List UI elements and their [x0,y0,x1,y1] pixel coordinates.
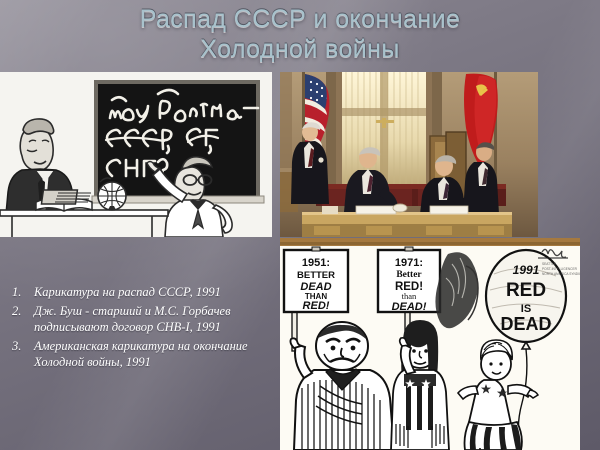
svg-text:RED!: RED! [303,300,330,312]
presentation-slide: Распад СССР и окончание Холодной войны [0,0,600,450]
caricature-illustration [0,72,272,237]
cold-war-cartoon-illustration: 1951: BETTER DEAD THAN RED! 1971: Better… [280,238,580,450]
image-american-cold-war-cartoon: 1951: BETTER DEAD THAN RED! 1971: Better… [280,238,580,450]
caption-list: 1. Карикатура на распад СССР, 1991 2. Дж… [6,284,274,373]
title-line-1: Распад СССР и окончание [0,4,600,34]
list-item-label: Американская карикатура на окончание Хол… [34,338,274,371]
svg-text:POST-INTELLIGENCER: POST-INTELLIGENCER [542,267,578,271]
svg-text:SEATTLE: SEATTLE [542,262,556,266]
page-title: Распад СССР и окончание Холодной войны [0,4,600,64]
svg-text:1951:: 1951: [302,257,330,269]
treaty-photograph [280,72,538,237]
list-item-label: Карикатура на распад СССР, 1991 [34,284,221,301]
list-item-number: 3. [6,338,34,355]
svg-text:than: than [402,291,417,301]
svg-text:NORTH AMERICA SYNDICATE: NORTH AMERICA SYNDICATE [542,272,580,276]
list-item-number: 2. [6,303,34,320]
list-item-label: Дж. Буш - старший и М.С. Горбачев подпис… [34,303,274,336]
svg-text:RED: RED [506,280,546,301]
list-item: 2. Дж. Буш - старший и М.С. Горбачев под… [6,303,274,336]
list-item-number: 1. [6,284,34,301]
svg-text:1971:: 1971: [395,257,423,269]
image-caricature-ussr-collapse [0,72,272,237]
svg-text:DEAD: DEAD [500,314,551,334]
svg-text:1991: 1991 [513,263,540,277]
svg-text:Better: Better [396,270,422,280]
list-item: 1. Карикатура на распад СССР, 1991 [6,284,274,301]
svg-text:DEAD!: DEAD! [392,301,427,313]
title-line-2: Холодной войны [0,34,600,64]
list-item: 3. Американская карикатура на окончание … [6,338,274,371]
svg-text:BETTER: BETTER [297,270,335,281]
image-start-treaty-signing [280,72,538,237]
